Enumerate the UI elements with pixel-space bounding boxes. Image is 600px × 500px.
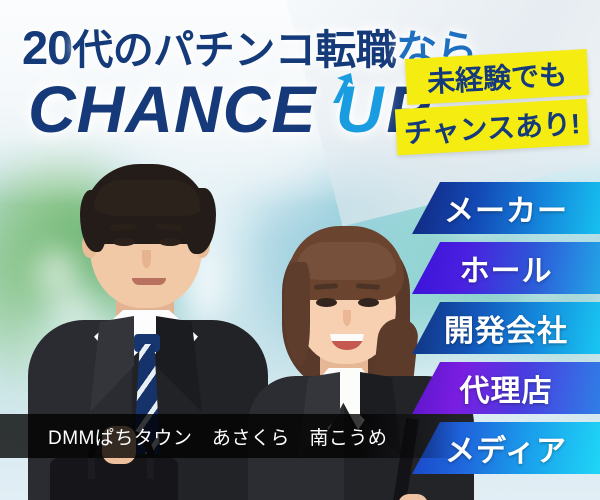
male-eye-left (113, 238, 135, 246)
chance-up-logo: CHANCE UP (28, 76, 431, 142)
category-item-agency[interactable]: 代理店 (412, 362, 600, 414)
male-mouth (132, 278, 166, 285)
advertisement-banner[interactable]: 20代のパチンコ転職なら CHANCE UP 未経験でも チャンスあり! メーカ… (0, 0, 600, 500)
male-nose (142, 250, 151, 268)
badge-line-1: 未経験でも (405, 49, 589, 105)
female-eye-left (316, 298, 337, 307)
female-hair-fringe (296, 242, 396, 280)
badge-line-2: チャンスあり! (395, 99, 589, 156)
logo-u-letter: U (336, 72, 387, 146)
logo-chance-text: CHANCE (28, 72, 336, 146)
category-item-developer[interactable]: 開発会社 (412, 302, 600, 354)
category-item-hall[interactable]: ホール (412, 242, 600, 294)
male-eye-right (159, 238, 181, 246)
female-eye-right (358, 298, 379, 307)
category-item-maker[interactable]: メーカー (412, 182, 600, 234)
experience-badge: 未経験でも チャンスあり! (396, 54, 592, 158)
headline-number: 20 (22, 21, 72, 74)
credit-text: DMMぱちタウン あさくら 南こうめ (0, 423, 387, 450)
credit-bar: DMMぱちタウン あさくら 南こうめ (0, 414, 460, 458)
female-nose (343, 310, 351, 326)
male-hair-fringe (94, 180, 200, 216)
female-teeth (330, 334, 364, 341)
headline-lead: 代のパチンコ転職 (72, 27, 396, 73)
